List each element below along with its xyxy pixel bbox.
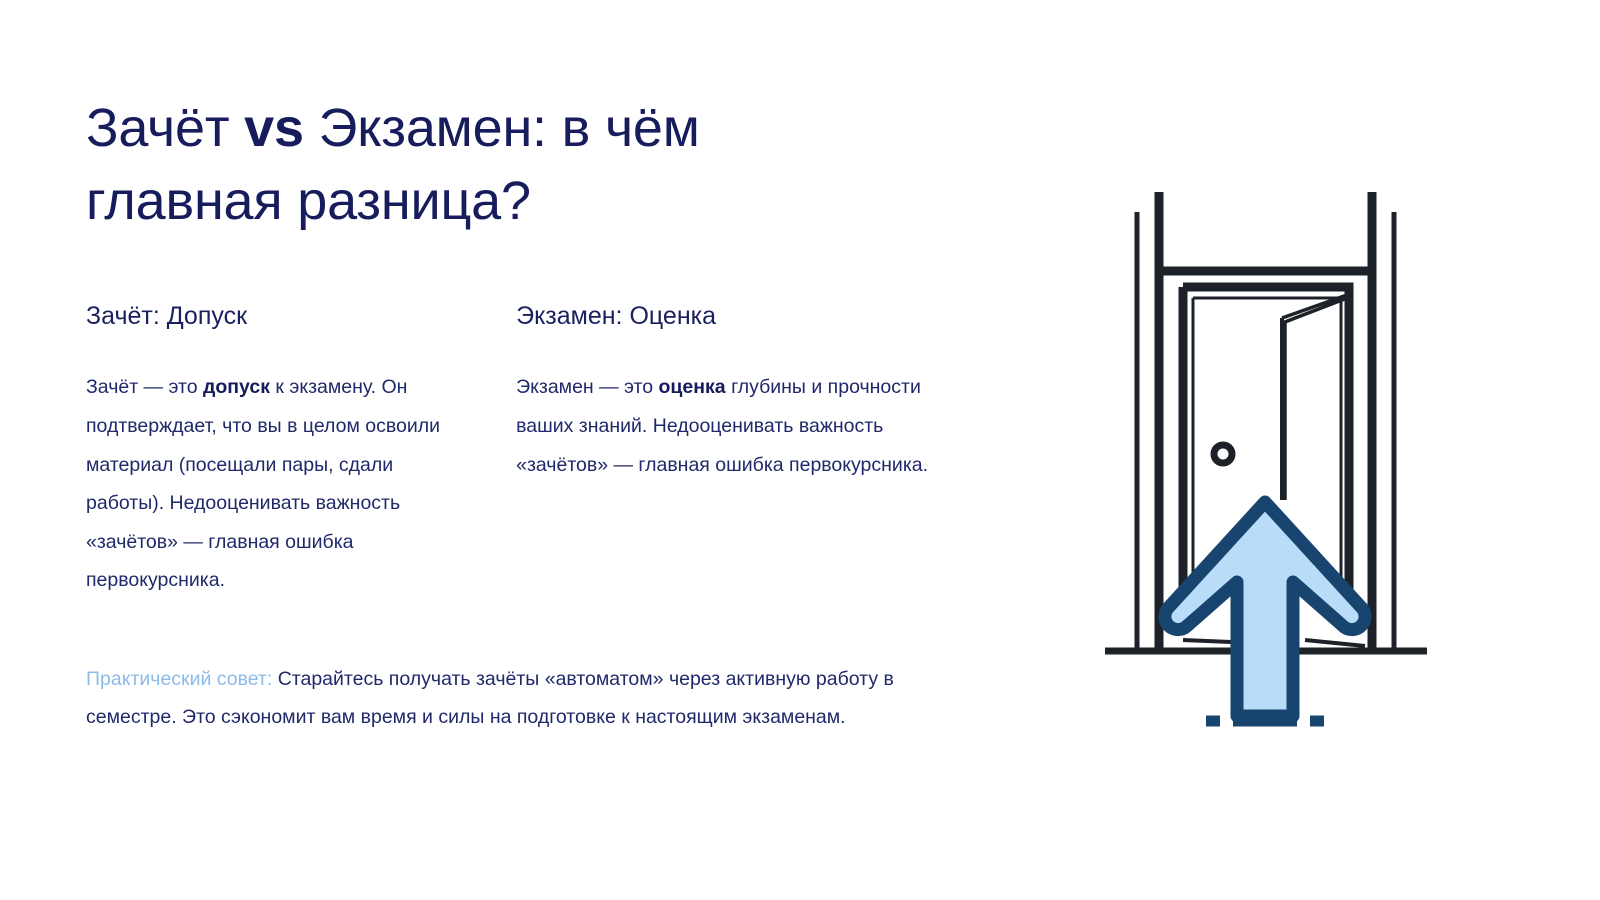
slide-root: Зачёт vs Экзамен: в чём главная разница?…: [0, 0, 1600, 900]
title-part-before: Зачёт: [86, 98, 244, 158]
floor-threshold-right-icon: [1305, 640, 1365, 646]
door-panel-icon: [1282, 295, 1347, 500]
up-arrow-icon: [1165, 502, 1365, 716]
door-handle-icon: [1214, 445, 1232, 463]
page-title: Зачёт vs Экзамен: в чём главная разница?: [86, 92, 806, 238]
body-text-before: Экзамен — это: [516, 376, 658, 398]
body-text-bold: допуск: [203, 376, 270, 398]
column-heading-zachet: Зачёт: Допуск: [86, 300, 474, 333]
column-ekzamen: Экзамен: Оценка Экзамен — это оценка глу…: [516, 300, 946, 600]
column-heading-ekzamen: Экзамен: Оценка: [516, 300, 946, 333]
column-zachet: Зачёт: Допуск Зачёт — это допуск к экзам…: [86, 300, 516, 600]
practical-tip: Практический совет: Старайтесь получать …: [86, 660, 916, 736]
comparison-columns: Зачёт: Допуск Зачёт — это допуск к экзам…: [86, 300, 946, 600]
body-text-bold: оценка: [659, 376, 726, 398]
text-content: Зачёт vs Экзамен: в чём главная разница?…: [86, 92, 946, 755]
title-part-bold: vs: [244, 98, 304, 158]
door-illustration: [1075, 170, 1455, 740]
column-body-zachet: Зачёт — это допуск к экзамену. Он подтве…: [86, 368, 474, 600]
practical-tip-label: Практический совет:: [86, 668, 272, 690]
body-text-after: к экзамену. Он подтверждает, что вы в це…: [86, 376, 440, 591]
column-body-ekzamen: Экзамен — это оценка глубины и прочности…: [516, 368, 946, 484]
body-text-before: Зачёт — это: [86, 376, 203, 398]
